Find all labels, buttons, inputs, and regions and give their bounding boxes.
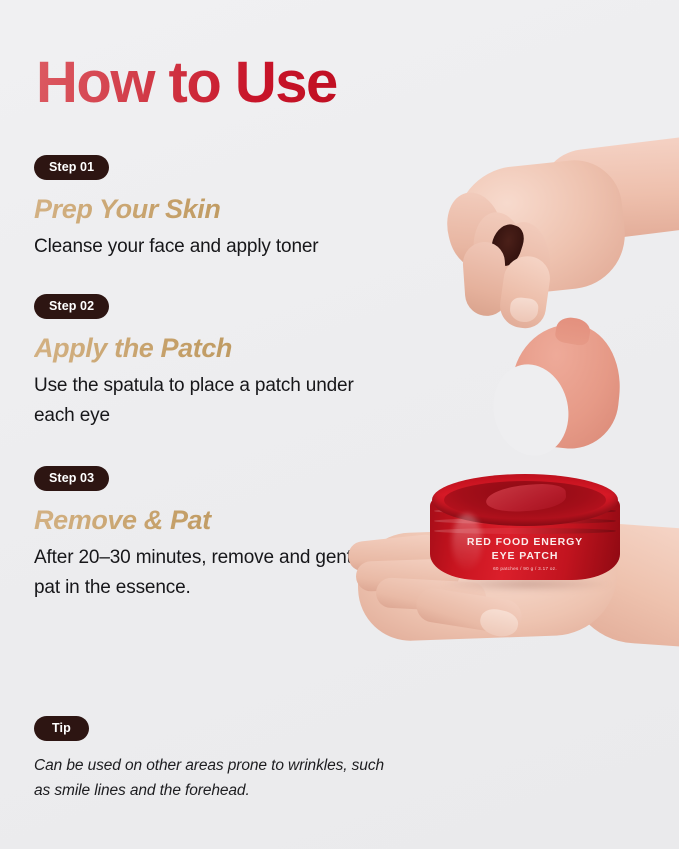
product-jar-image: RED FOOD ENERGY EYE PATCH 60 patches / 9…: [430, 474, 620, 588]
step-badge-02: Step 02: [34, 294, 109, 319]
tip-badge: Tip: [34, 716, 89, 741]
page-title: How to Use: [36, 54, 337, 112]
how-to-use-page: How to Use Step 01 Prep Your Skin Cleans…: [0, 0, 679, 849]
hand-holding-jar-image: RED FOOD ENERGY EYE PATCH 60 patches / 9…: [330, 468, 679, 664]
product-name-line-2: EYE PATCH: [430, 550, 620, 564]
step-body-01: Cleanse your face and apply toner: [34, 232, 354, 261]
step-badge-03: Step 03: [34, 466, 109, 491]
product-spec: 60 patches / 90 g / 3.17 oz.: [430, 566, 620, 572]
step-badge-01: Step 01: [34, 155, 109, 180]
tip-text: Can be used on other areas prone to wrin…: [34, 753, 404, 803]
step-body-02: Use the spatula to place a patch under e…: [34, 371, 354, 430]
hand-holding-patch-image: [408, 138, 679, 438]
jar-label: RED FOOD ENERGY EYE PATCH 60 patches / 9…: [430, 536, 620, 572]
product-photo-area: RED FOOD ENERGY EYE PATCH 60 patches / 9…: [330, 130, 679, 670]
eye-patch-image: [512, 324, 620, 448]
product-name-line-1: RED FOOD ENERGY: [430, 536, 620, 550]
tip-section: Tip Can be used on other areas prone to …: [34, 716, 434, 803]
step-body-03: After 20–30 minutes, remove and gently p…: [34, 543, 374, 602]
